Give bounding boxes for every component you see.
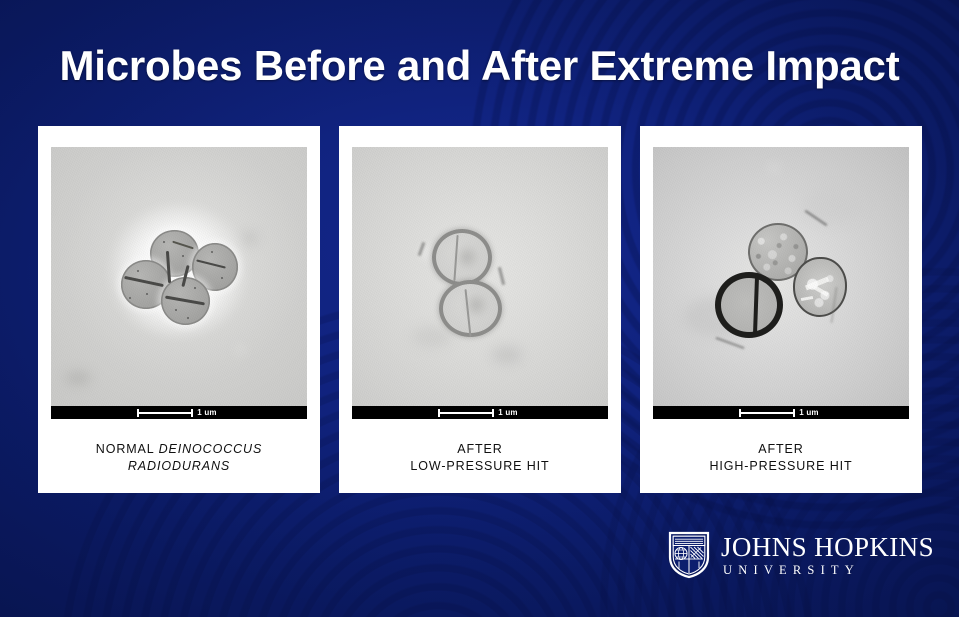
scale-bar-inner: 1 um	[438, 409, 517, 417]
jhu-logo-subtitle: UNIVERSITY	[723, 563, 860, 578]
scale-bar-label: 1 um	[197, 409, 216, 417]
scale-bar-inner: 1 um	[137, 409, 216, 417]
panel-caption-low-pressure: AFTER LOW-PRESSURE HIT	[410, 441, 549, 475]
scale-bar-line	[438, 412, 494, 414]
caption-line-1: AFTER	[410, 441, 549, 458]
micrograph-high-pressure: 1 um	[653, 147, 909, 419]
page-title: Microbes Before and After Extreme Impact	[0, 42, 959, 90]
scale-bar-high-pressure: 1 um	[653, 406, 909, 419]
panel-caption-high-pressure: AFTER HIGH-PRESSURE HIT	[709, 441, 852, 475]
micrograph-field-high-pressure	[653, 147, 909, 406]
panel-high-pressure: 1 um AFTER HIGH-PRESSURE HIT	[640, 126, 922, 493]
film-grain	[653, 147, 909, 406]
panel-caption-normal: NORMAL DEINOCOCCUS RADIODURANS	[51, 441, 307, 475]
jhu-logo: JOHNS HOPKINS UNIVERSITY	[668, 527, 898, 583]
micrograph-field-low-pressure	[352, 147, 608, 406]
scale-bar-label: 1 um	[498, 409, 517, 417]
jhu-shield-crest-icon	[668, 531, 710, 579]
slide-canvas: Microbes Before and After Extreme Impact	[0, 0, 959, 617]
scale-bar-line	[739, 412, 795, 414]
film-grain	[352, 147, 608, 406]
caption-line-2: HIGH-PRESSURE HIT	[709, 458, 852, 475]
scale-bar-inner: 1 um	[739, 409, 818, 417]
scale-bar-line	[137, 412, 193, 414]
panel-normal: 1 um NORMAL DEINOCOCCUS RADIODURANS	[38, 126, 320, 493]
caption-line-1: AFTER	[709, 441, 852, 458]
scale-bar-label: 1 um	[799, 409, 818, 417]
film-grain	[51, 147, 307, 406]
caption-line-2: LOW-PRESSURE HIT	[410, 458, 549, 475]
micrograph-low-pressure: 1 um	[352, 147, 608, 419]
micrograph-normal: 1 um	[51, 147, 307, 419]
caption-prefix: NORMAL	[96, 442, 159, 456]
panel-row: 1 um NORMAL DEINOCOCCUS RADIODURANS	[38, 126, 922, 493]
scale-bar-low-pressure: 1 um	[352, 406, 608, 419]
micrograph-field-normal	[51, 147, 307, 406]
jhu-logo-text: JOHNS HOPKINS UNIVERSITY	[721, 533, 934, 578]
scale-bar-normal: 1 um	[51, 406, 307, 419]
jhu-logo-name: JOHNS HOPKINS	[721, 533, 934, 561]
panel-low-pressure: 1 um AFTER LOW-PRESSURE HIT	[339, 126, 621, 493]
